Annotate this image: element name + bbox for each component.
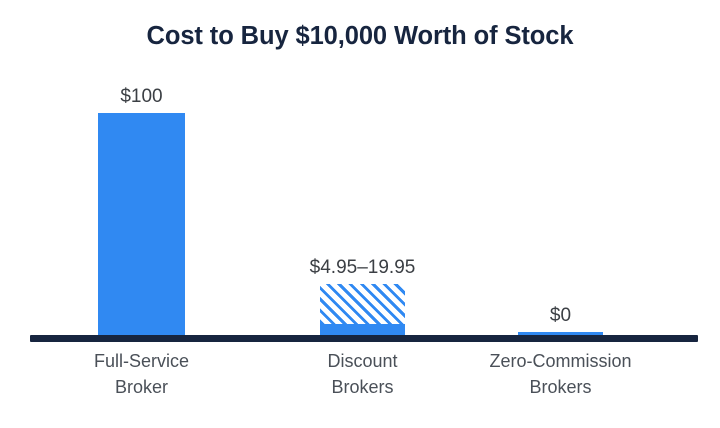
plot-area: $100 $4.95–19.95 $0 [0,70,720,340]
bar-column: $4.95–19.95 [320,258,405,335]
category-label-line-1: Zero-Commission [470,348,651,374]
category-label-discount-brokers: Discount Brokers [295,348,430,400]
bar-chart-figure: Cost to Buy $10,000 Worth of Stock $100 … [0,0,720,428]
bar-group-discount-brokers: $4.95–19.95 [320,70,405,335]
bar-rect-discount-brokers [320,284,405,335]
category-label-line-2: Brokers [470,374,651,400]
bar-group-full-service-broker: $100 [98,70,185,335]
axis-baseline [30,335,698,342]
category-label-zero-commission-brokers: Zero-Commission Brokers [470,348,651,400]
category-label-line-1: Discount [295,348,430,374]
category-label-full-service-broker: Full-Service Broker [73,348,210,400]
bar-rect-full-service-broker [98,113,185,335]
bar-value-label: $100 [120,87,162,106]
category-label-line-1: Full-Service [73,348,210,374]
bar-value-label: $0 [550,306,571,325]
bar-value-label: $4.95–19.95 [310,258,416,277]
category-label-line-2: Broker [73,374,210,400]
chart-title: Cost to Buy $10,000 Worth of Stock [0,22,720,51]
category-label-line-2: Brokers [295,374,430,400]
bar-column: $0 [518,306,603,335]
bar-column: $100 [98,87,185,335]
bar-group-zero-commission-brokers: $0 [518,70,603,335]
